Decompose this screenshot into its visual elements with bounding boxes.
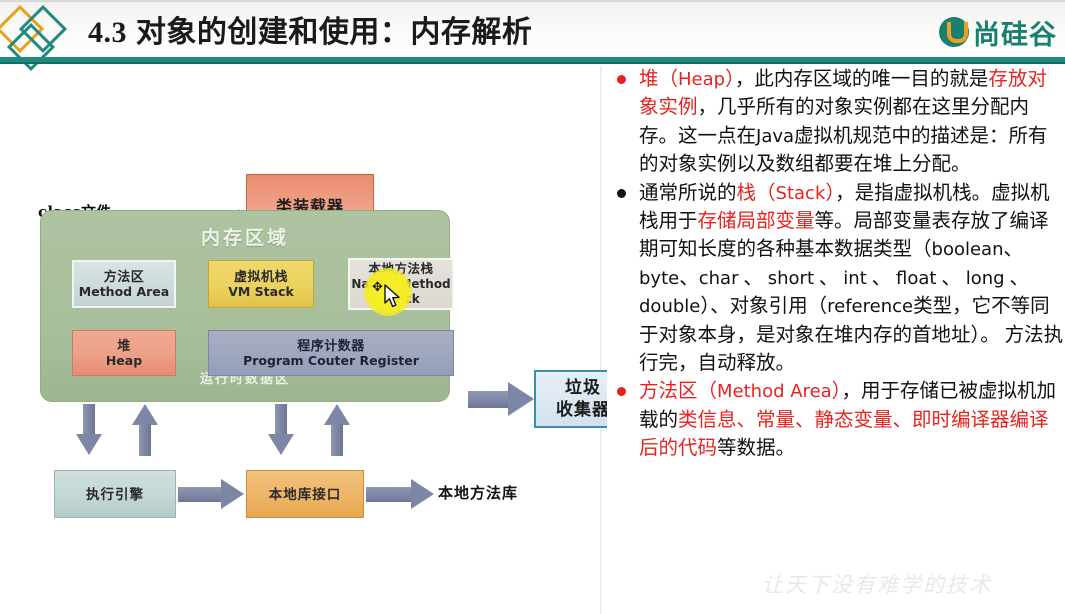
- native-interface-box: 本地库接口: [246, 470, 364, 518]
- text-run: 、: [1005, 268, 1029, 289]
- u-logo-icon: [939, 17, 969, 47]
- vm-stack-label-cn: 虚拟机栈: [234, 269, 288, 284]
- native-library-label: 本地方法库: [438, 482, 518, 503]
- text-run: 、: [936, 268, 965, 289]
- method-area-box: 方法区 Method Area: [72, 260, 176, 308]
- arrow-head: [411, 479, 434, 509]
- arrow-stem: [83, 404, 95, 436]
- arrow-exec-to-native-icon: [178, 479, 244, 509]
- text-run: float: [896, 268, 936, 289]
- bullet-item: 通常所说的栈（Stack），是指虚拟机栈。虚拟机栈用于存储局部变量等。局部变量表…: [607, 180, 1065, 379]
- text-run: 、: [867, 268, 896, 289]
- jvm-memory-diagram: class文件 类装载器 内存区域 运行时数据区 方法区 Method Area…: [28, 82, 598, 552]
- text-run: 方法区（: [639, 381, 717, 402]
- native-interface-label: 本地库接口: [269, 487, 342, 502]
- arrow-head: [268, 434, 294, 455]
- arrow-head: [508, 382, 534, 416]
- arrow-to-gc-icon: [468, 382, 534, 416]
- arrow-stem: [366, 487, 412, 502]
- page-title-text: 对象的创建和使用：内存解析: [136, 16, 533, 49]
- text-run: Stack: [776, 183, 826, 204]
- arrow-stem: [178, 487, 222, 502]
- text-run: ）: [832, 381, 842, 402]
- execution-engine-box: 执行引擎: [54, 470, 176, 518]
- page-title: 4.3 对象的创建和使用：内存解析: [88, 10, 848, 58]
- arrow-head: [221, 479, 244, 509]
- text-run: 、: [679, 268, 699, 289]
- text-run: ）: [725, 69, 735, 90]
- arrow-stem: [139, 424, 151, 456]
- execution-engine-label: 执行引擎: [86, 487, 144, 502]
- text-run: ）: [825, 183, 835, 204]
- text-run: Method Area: [717, 381, 832, 402]
- method-area-label-cn: 方法区: [104, 269, 145, 284]
- vm-stack-label-en: VM Stack: [228, 284, 294, 299]
- text-run: long: [966, 268, 1005, 289]
- text-run: reference: [827, 296, 913, 317]
- column-divider: [600, 66, 602, 614]
- text-run: int: [843, 268, 866, 289]
- bullet-text: 方法区（Method Area），用于存储已被虚拟机加载的类信息、常量、静态变量…: [639, 378, 1065, 463]
- watermark-text: 让天下没有难学的技术: [762, 569, 992, 599]
- text-run: 等数据。: [717, 438, 795, 459]
- garbage-collector-label-line2: 收集器: [556, 399, 610, 421]
- text-run: 堆（: [639, 69, 678, 90]
- bullet-dot-icon: [617, 189, 626, 198]
- program-counter-label-cn: 程序计数器: [297, 338, 365, 353]
- text-run: 类信息、常量、静态变量、即时编译器编译后的代码: [639, 410, 1049, 459]
- text-run: 栈（: [737, 183, 776, 204]
- text-run: Java: [756, 126, 794, 147]
- arrow-up-1-icon: [132, 404, 158, 456]
- vm-stack-box: 虚拟机栈 VM Stack: [208, 260, 314, 308]
- heap-label-cn: 堆: [117, 338, 131, 353]
- heap-label-en: Heap: [106, 353, 142, 368]
- bullet-text: 堆（Heap），此内存区域的唯一目的就是存放对象实例，几乎所有的对象实例都在这里…: [639, 66, 1065, 180]
- text-run: 、: [738, 268, 767, 289]
- text-run: ，此内存区域的唯一目的就是: [735, 69, 989, 90]
- garbage-collector-label-line1: 垃圾: [565, 377, 601, 399]
- arrow-down-1-icon: [76, 404, 102, 456]
- text-run: byte: [639, 268, 679, 289]
- brand-name: 尚硅谷: [973, 13, 1057, 52]
- arrow-down-2-icon: [268, 404, 294, 456]
- bullet-list: 堆（Heap），此内存区域的唯一目的就是存放对象实例，几乎所有的对象实例都在这里…: [607, 66, 1065, 464]
- bullet-dot-icon: [617, 387, 626, 396]
- slide-root: 4.3 对象的创建和使用：内存解析 尚硅谷 class文件 类装载器 内存区域 …: [0, 0, 1065, 614]
- arrow-stem: [275, 404, 287, 436]
- heap-box: 堆 Heap: [72, 330, 176, 376]
- bullet-dot-icon: [617, 75, 626, 84]
- text-run: 、: [1003, 239, 1023, 260]
- mouse-cursor: [384, 284, 404, 310]
- arrow-up-2-icon: [324, 404, 350, 456]
- slide-header: 4.3 对象的创建和使用：内存解析 尚硅谷: [0, 0, 1065, 64]
- arrow-head: [132, 404, 158, 425]
- text-run: boolean: [932, 239, 1004, 260]
- text-run: 存储局部变量: [698, 211, 815, 232]
- bullet-item: 堆（Heap），此内存区域的唯一目的就是存放对象实例，几乎所有的对象实例都在这里…: [607, 66, 1065, 180]
- arrow-head: [76, 434, 102, 455]
- text-run: Heap: [678, 69, 725, 90]
- explanation-panel: 堆（Heap），此内存区域的唯一目的就是存放对象实例，几乎所有的对象实例都在这里…: [607, 66, 1065, 614]
- arrow-stem: [331, 424, 343, 456]
- program-counter-box: 程序计数器 Program Couter Register: [208, 330, 454, 376]
- bullet-text: 通常所说的栈（Stack），是指虚拟机栈。虚拟机栈用于存储局部变量等。局部变量表…: [639, 180, 1065, 379]
- method-area-label-en: Method Area: [79, 284, 169, 299]
- diamonds-logo-icon: [2, 8, 72, 58]
- brand-logo: 尚硅谷: [939, 12, 1057, 52]
- text-run: 通常所说的: [639, 183, 737, 204]
- page-title-number: 4.3: [88, 16, 127, 49]
- arrow-native-to-lib-icon: [366, 479, 436, 509]
- program-counter-label-en: Program Couter Register: [243, 353, 419, 368]
- arrow-stem: [468, 391, 510, 408]
- text-run: double: [639, 296, 700, 317]
- text-run: ）、对象引用（: [700, 296, 827, 317]
- memory-region-title: 内存区域: [41, 223, 449, 250]
- text-run: char: [699, 268, 739, 289]
- arrow-head: [324, 404, 350, 425]
- text-run: short: [768, 268, 814, 289]
- bullet-item: 方法区（Method Area），用于存储已被虚拟机加载的类信息、常量、静态变量…: [607, 378, 1065, 463]
- text-run: 、: [814, 268, 843, 289]
- header-rule-shadow: [0, 62, 1065, 64]
